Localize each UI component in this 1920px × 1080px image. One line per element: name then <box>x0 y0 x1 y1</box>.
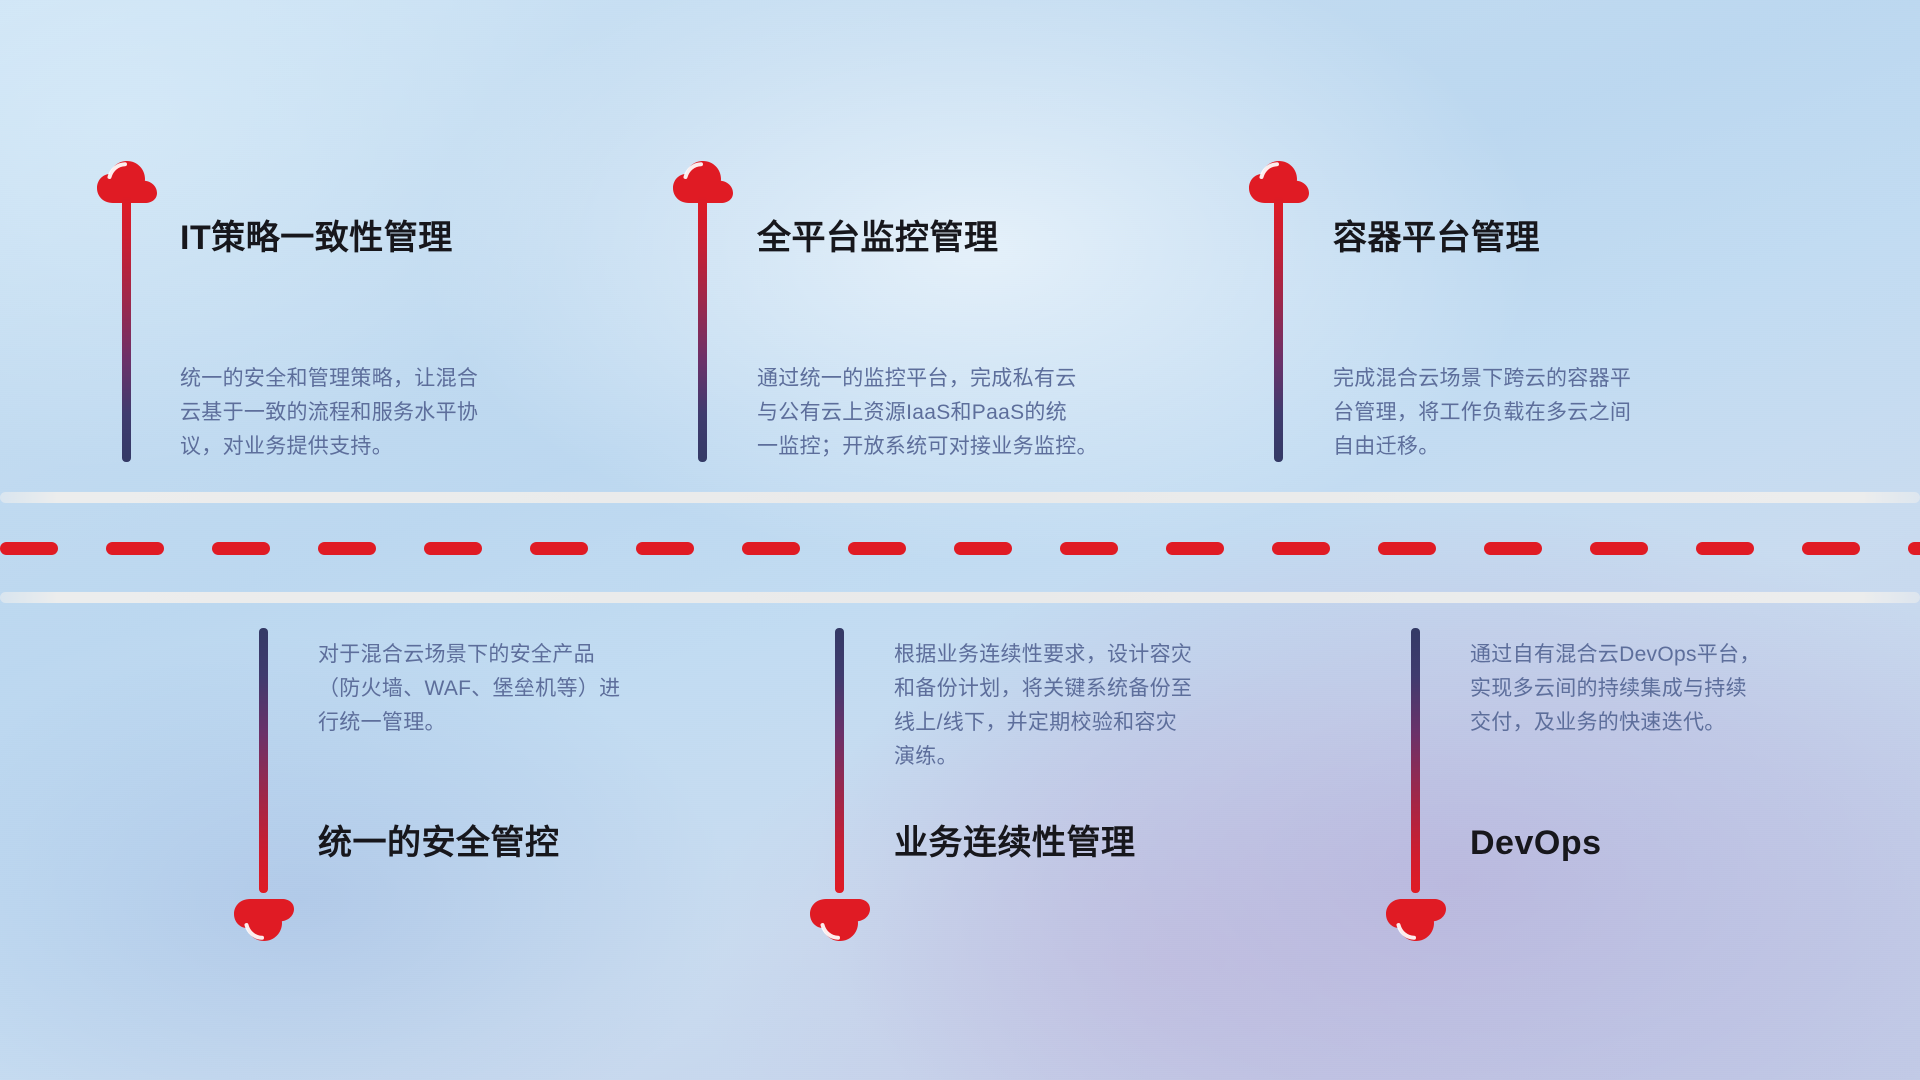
dash-segment <box>636 542 694 555</box>
connector-stem <box>259 628 268 893</box>
dash-segment <box>1272 542 1330 555</box>
dash-segment <box>1484 542 1542 555</box>
column-heading: IT策略一致性管理 <box>180 220 453 257</box>
dash-segment <box>1908 542 1920 555</box>
connector-stem <box>835 628 844 893</box>
dash-segment <box>954 542 1012 555</box>
column-body-text: 对于混合云场景下的安全产品 （防火墙、WAF、堡垒机等）进 行统一管理。 <box>318 638 748 740</box>
dash-segment <box>318 542 376 555</box>
column-body-text: 统一的安全和管理策略，让混合 云基于一致的流程和服务水平协 议，对业务提供支持。 <box>180 362 610 464</box>
dash-segment <box>1060 542 1118 555</box>
column-heading: 统一的安全管控 <box>318 825 560 862</box>
column-body-text: 完成混合云场景下跨云的容器平 台管理，将工作负载在多云之间 自由迁移。 <box>1333 362 1763 464</box>
connector-stem <box>698 196 707 462</box>
dash-segment <box>1166 542 1224 555</box>
column-body-text: 通过统一的监控平台，完成私有云 与公有云上资源IaaS和PaaS的统 一监控；开… <box>757 362 1197 464</box>
divider-band-top <box>0 492 1920 503</box>
connector-stem <box>1274 196 1283 462</box>
dash-segment <box>530 542 588 555</box>
cloud-icon <box>809 898 871 942</box>
connector-stem <box>122 196 131 462</box>
dash-segment <box>1378 542 1436 555</box>
dash-segment <box>742 542 800 555</box>
dash-segment <box>212 542 270 555</box>
dash-segment <box>848 542 906 555</box>
dash-segment <box>106 542 164 555</box>
dash-segment <box>1696 542 1754 555</box>
divider-band-bottom <box>0 592 1920 603</box>
dash-segment <box>424 542 482 555</box>
connector-stem <box>1411 628 1420 893</box>
column-heading: 容器平台管理 <box>1333 220 1540 257</box>
cloud-icon <box>1385 898 1447 942</box>
dash-segment <box>1802 542 1860 555</box>
column-heading: 全平台监控管理 <box>757 220 999 257</box>
dashed-separator <box>0 542 1920 555</box>
column-body-text: 根据业务连续性要求，设计容灾 和备份计划，将关键系统备份至 线上/线下，并定期校… <box>894 638 1334 774</box>
column-heading: 业务连续性管理 <box>894 825 1136 862</box>
column-heading: DevOps <box>1470 825 1602 862</box>
cloud-icon <box>233 898 295 942</box>
dash-segment <box>1590 542 1648 555</box>
dash-segment <box>0 542 58 555</box>
column-body-text: 通过自有混合云DevOps平台， 实现多云间的持续集成与持续 交付，及业务的快速… <box>1470 638 1900 740</box>
infographic-canvas: IT策略一致性管理 统一的安全和管理策略，让混合 云基于一致的流程和服务水平协 … <box>0 0 1920 1080</box>
